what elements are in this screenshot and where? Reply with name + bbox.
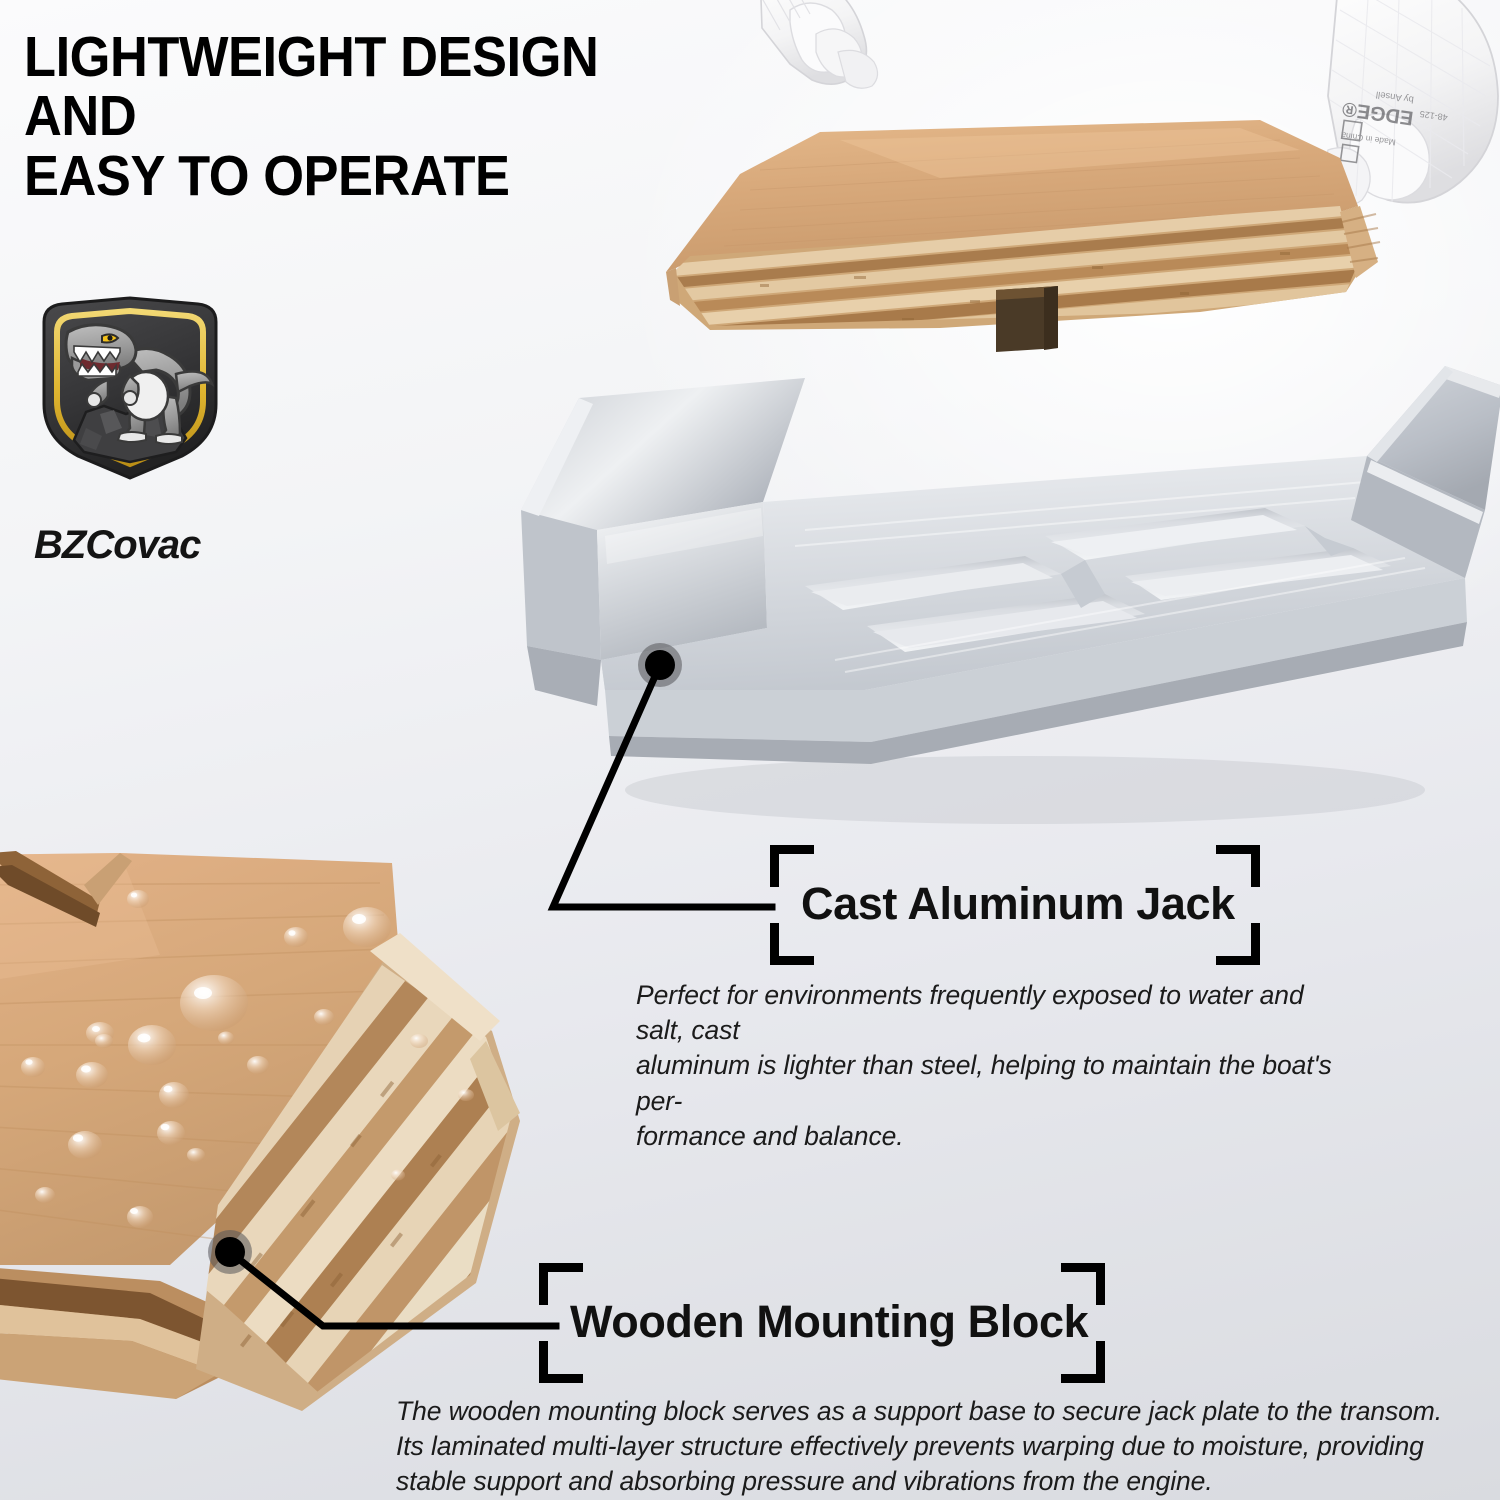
bracket-top-right-v: [1096, 1263, 1105, 1305]
brand-name: BZCovac: [34, 523, 201, 567]
callout-body-cast-aluminum-jack: Perfect for environments frequently expo…: [636, 978, 1336, 1154]
cast-aluminum-jack-plate-photo: [505, 360, 1500, 830]
bracket-bottom-right-v: [1251, 923, 1260, 965]
bracket-bottom-left-v: [770, 923, 779, 965]
callout-title-cast-aluminum-jack: Cast Aluminum Jack: [801, 878, 1235, 930]
callout-body-wooden-mounting-block: The wooden mounting block serves as a su…: [396, 1394, 1486, 1500]
bracket-top-left-v: [539, 1263, 548, 1305]
callout-body-line: formance and balance.: [636, 1119, 1336, 1154]
page-title: LIGHTWEIGHT DESIGN AND EASY TO OPERATE: [24, 28, 650, 206]
callout-body-line: Its laminated multi-layer structure effe…: [396, 1429, 1486, 1464]
callout-cast-aluminum-jack: Cast Aluminum Jack: [770, 845, 1260, 965]
callout-title-wooden-mounting-block: Wooden Mounting Block: [570, 1296, 1088, 1348]
brand-wordmark: BZCovac: [30, 520, 230, 568]
trex-shield-icon: [30, 288, 230, 526]
bracket-top-left-v: [770, 845, 779, 887]
callout-body-line: Perfect for environments frequently expo…: [636, 978, 1336, 1048]
bracket-bottom-left-v: [539, 1341, 548, 1383]
bracket-bottom-right-v: [1096, 1341, 1105, 1383]
headline-line-3: EASY TO OPERATE: [24, 147, 650, 206]
callout-wooden-mounting-block: Wooden Mounting Block: [539, 1263, 1105, 1383]
left-glove: [754, 0, 878, 88]
bracket-top-right-v: [1251, 845, 1260, 887]
headline-line-2: AND: [24, 87, 650, 146]
callout-body-line: stable support and absorbing pressure an…: [396, 1464, 1486, 1499]
callout-body-line: The wooden mounting block serves as a su…: [396, 1394, 1486, 1429]
right-glove: EDGE® by Ansell 48-125 Made in China: [1324, 0, 1498, 206]
callout-body-line: aluminum is lighter than steel, helping …: [636, 1048, 1336, 1118]
infographic-canvas: LIGHTWEIGHT DESIGN AND EASY TO OPERATE: [0, 0, 1500, 1500]
headline-line-1: LIGHTWEIGHT DESIGN: [24, 28, 650, 87]
brand-logo: BZCovac: [30, 288, 230, 526]
